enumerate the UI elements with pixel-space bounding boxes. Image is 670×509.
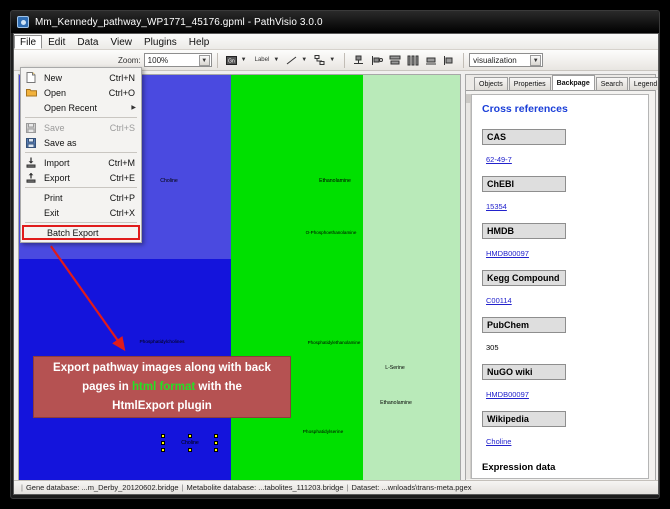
file-menu-item-import[interactable]: Import Ctrl+M xyxy=(21,155,141,170)
status-gene-db-label: Gene database: xyxy=(26,483,79,492)
application-body: File Edit Data View Plugins Help Zoom: 1… xyxy=(13,33,659,495)
menu-bar: File Edit Data View Plugins Help xyxy=(14,34,658,50)
visualization-value: visualization xyxy=(473,56,517,65)
banner-highlight: html format xyxy=(132,381,195,393)
toolbar-separator-2 xyxy=(344,53,345,68)
print-icon xyxy=(23,191,39,204)
line-caret-icon[interactable]: ▼ xyxy=(301,57,307,63)
save-icon xyxy=(23,121,39,134)
file-menu-item-open[interactable]: Open Ctrl+O xyxy=(21,85,141,100)
application-window: Mm_Kennedy_pathway_WP1771_45176.gpml - P… xyxy=(10,10,660,499)
file-menu-accel-save: Ctrl+S xyxy=(110,123,141,133)
file-menu-accel-exit: Ctrl+X xyxy=(110,208,141,218)
panel-tabstrip: Objects Properties Backpage Search Legen… xyxy=(466,75,655,91)
file-menu-accel-new: Ctrl+N xyxy=(109,73,141,83)
xref-value-cas[interactable]: 62-49-7 xyxy=(482,155,512,164)
expression-data-title: Expression data xyxy=(482,462,638,473)
status-dataset-label: Dataset: xyxy=(351,483,379,492)
file-menu-label-export: Export xyxy=(39,173,110,183)
annotation-banner: Export pathway images along with back pa… xyxy=(33,356,291,418)
status-gene-db-value: ...m_Derby_20120602.bridge xyxy=(81,483,178,492)
interaction-icon[interactable] xyxy=(311,53,328,68)
file-menu-item-save-as[interactable]: Save as xyxy=(21,135,141,150)
file-menu-item-save[interactable]: Save Ctrl+S xyxy=(21,120,141,135)
visualization-combobox[interactable]: visualization ▼ xyxy=(469,53,543,67)
folder-icon xyxy=(23,86,39,99)
label-caret-icon[interactable]: ▼ xyxy=(273,57,279,63)
chevron-down-icon-2[interactable]: ▼ xyxy=(530,55,541,66)
selection-handle-se[interactable] xyxy=(214,448,218,452)
file-menu-separator-4 xyxy=(25,222,137,223)
tab-search[interactable]: Search xyxy=(596,77,628,90)
selection-handle-e[interactable] xyxy=(214,441,218,445)
file-menu-item-new[interactable]: New Ctrl+N xyxy=(21,70,141,85)
tab-legend[interactable]: Legend xyxy=(629,77,659,90)
banner-line-1: Export pathway images along with back xyxy=(34,359,290,378)
banner-line-2-post: with the xyxy=(195,381,242,393)
tab-objects[interactable]: Objects xyxy=(474,77,508,90)
zoom-combobox[interactable]: 100% ▼ xyxy=(144,53,212,67)
screenshot-root: Mm_Kennedy_pathway_WP1771_45176.gpml - P… xyxy=(0,0,670,509)
file-menu-label-exit: Exit xyxy=(39,208,110,218)
xref-head-hmdb: HMDB xyxy=(482,223,566,239)
interaction-caret-icon[interactable]: ▼ xyxy=(329,57,335,63)
file-menu-item-print[interactable]: Print Ctrl+P xyxy=(21,190,141,205)
xref-value-hmdb[interactable]: HMDB00097 xyxy=(482,249,529,258)
banner-line-2-pre: pages in xyxy=(82,381,132,393)
datanode-icon[interactable]: Gn xyxy=(223,53,240,68)
status-separator-0: | xyxy=(18,483,26,492)
export-icon xyxy=(23,171,39,184)
label-icon[interactable]: Label xyxy=(251,53,274,68)
distribute-icon[interactable] xyxy=(404,53,421,68)
file-menu-accel-export: Ctrl+E xyxy=(110,173,141,183)
file-menu-accel-import: Ctrl+M xyxy=(108,158,141,168)
selection-handle-ne[interactable] xyxy=(214,434,218,438)
status-bar: | Gene database: ...m_Derby_20120602.bri… xyxy=(14,480,658,494)
chevron-right-icon: ▶ xyxy=(131,104,136,111)
file-menu-label-open: Open xyxy=(39,88,109,98)
zoom-value: 100% xyxy=(148,56,168,65)
save-as-icon xyxy=(23,136,39,149)
window-title: Mm_Kennedy_pathway_WP1771_45176.gpml - P… xyxy=(35,17,323,28)
xref-value-nugo-wiki[interactable]: HMDB00097 xyxy=(482,390,529,399)
selection-handle-s[interactable] xyxy=(188,448,192,452)
file-menu-accel-print: Ctrl+P xyxy=(110,193,141,203)
cross-references-title: Cross references xyxy=(482,103,638,115)
xref-head-wikipedia: Wikipedia xyxy=(482,411,566,427)
zoom-label: Zoom: xyxy=(118,56,141,65)
svg-text:Gn: Gn xyxy=(228,58,235,64)
import-icon xyxy=(23,156,39,169)
file-menu-separator-1 xyxy=(25,117,137,118)
xref-head-chebi: ChEBI xyxy=(482,176,566,192)
menu-file[interactable]: File xyxy=(14,35,42,49)
file-menu-accel-open: Ctrl+O xyxy=(109,88,141,98)
pathvisio-icon xyxy=(17,16,29,28)
tab-backpage[interactable]: Backpage xyxy=(552,75,595,90)
file-menu-item-batch-export[interactable]: Batch Export xyxy=(22,225,140,240)
batch-export-icon xyxy=(26,226,42,239)
xref-head-cas: CAS xyxy=(482,129,566,145)
file-menu-item-exit[interactable]: Exit Ctrl+X xyxy=(21,205,141,220)
menu-plugins[interactable]: Plugins xyxy=(138,35,183,49)
xref-value-wikipedia[interactable]: Choline xyxy=(482,437,511,446)
xref-head-pubchem: PubChem xyxy=(482,317,566,333)
exit-icon xyxy=(23,206,39,219)
selection-handle-nw[interactable] xyxy=(161,434,165,438)
xref-value-kegg-compound[interactable]: C00114 xyxy=(482,296,512,305)
status-metabolite-db-value: ...tabolites_111203.bridge xyxy=(258,483,343,492)
status-metabolite-db-label: Metabolite database: xyxy=(187,483,257,492)
file-menu-label-open-recent: Open Recent xyxy=(39,103,141,113)
open-recent-icon xyxy=(23,101,39,114)
banner-line-3: HtmlExport plugin xyxy=(34,397,290,416)
backpage-content: Cross references CAS 62-49-7 ChEBI 15354… xyxy=(471,94,649,479)
file-menu-label-save: Save xyxy=(39,123,110,133)
selection-handle-sw[interactable] xyxy=(161,448,165,452)
toolbar-separator-3 xyxy=(463,53,464,68)
file-menu-item-open-recent[interactable]: Open Recent ▶ xyxy=(21,100,141,115)
selection-handle-n[interactable] xyxy=(188,434,192,438)
bring-front-icon[interactable] xyxy=(440,53,457,68)
toolbar-separator xyxy=(217,53,218,68)
datanode-caret-icon[interactable]: ▼ xyxy=(241,57,247,63)
file-menu-item-export[interactable]: Export Ctrl+E xyxy=(21,170,141,185)
align-center-icon[interactable] xyxy=(386,53,403,68)
new-file-icon xyxy=(23,71,39,84)
selection-handle-w[interactable] xyxy=(161,441,165,445)
menu-view[interactable]: View xyxy=(104,35,138,49)
side-panel: Objects Properties Backpage Search Legen… xyxy=(465,74,656,484)
file-menu-label-import: Import xyxy=(39,158,108,168)
title-bar: Mm_Kennedy_pathway_WP1771_45176.gpml - P… xyxy=(11,11,659,33)
status-separator-1: | xyxy=(179,483,187,492)
tab-properties[interactable]: Properties xyxy=(509,77,551,90)
align-left-icon[interactable] xyxy=(368,53,385,68)
file-menu-dropdown[interactable]: New Ctrl+N Open Ctrl+O Open Recent ▶ xyxy=(20,67,142,243)
menu-edit[interactable]: Edit xyxy=(42,35,71,49)
file-menu-separator-3 xyxy=(25,187,137,188)
file-menu-label-save-as: Save as xyxy=(39,138,135,148)
status-separator-2: | xyxy=(343,483,351,492)
xref-head-nugo-wiki: NuGO wiki xyxy=(482,364,566,380)
file-menu-label-batch-export: Batch Export xyxy=(42,228,138,238)
align-top-icon[interactable] xyxy=(350,53,367,68)
same-width-icon[interactable] xyxy=(422,53,439,68)
file-menu-separator-2 xyxy=(25,152,137,153)
file-menu-label-print: Print xyxy=(39,193,110,203)
status-dataset-value: ...wnloads\trans-meta.pgex xyxy=(381,483,471,492)
menu-help[interactable]: Help xyxy=(183,35,216,49)
banner-line-2: pages in html format with the xyxy=(34,378,290,397)
chevron-down-icon[interactable]: ▼ xyxy=(199,55,210,66)
file-menu-label-new: New xyxy=(39,73,109,83)
xref-head-kegg-compound: Kegg Compound xyxy=(482,270,566,286)
menu-data[interactable]: Data xyxy=(71,35,104,49)
line-icon[interactable] xyxy=(283,53,300,68)
xref-value-pubchem: 305 xyxy=(482,343,499,352)
xref-value-chebi[interactable]: 15354 xyxy=(482,202,507,211)
